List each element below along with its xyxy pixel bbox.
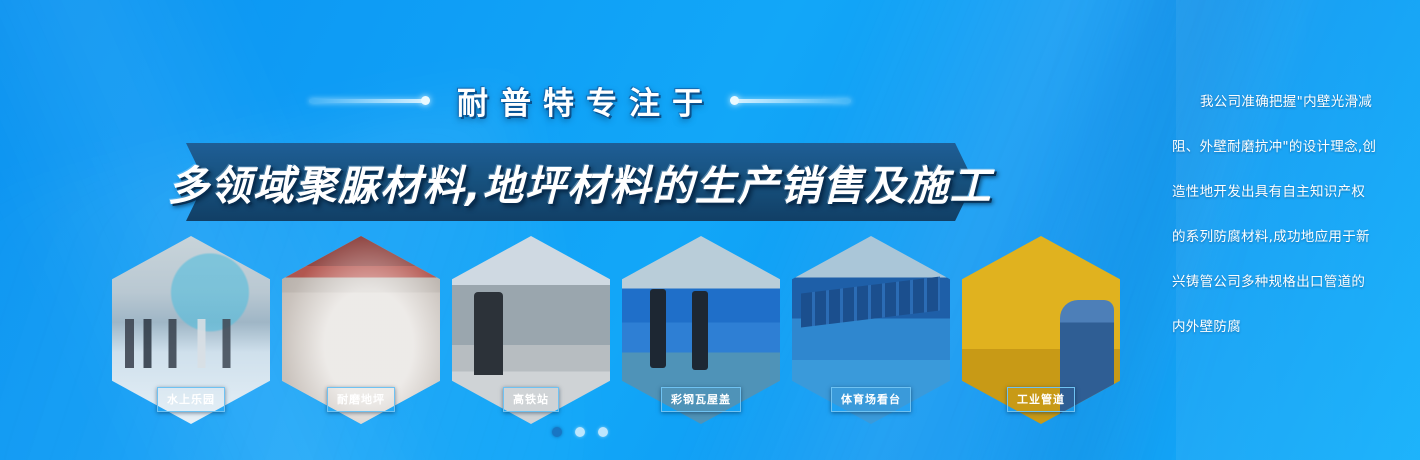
- headline-text: 多领域聚脲材料,地坪材料的生产销售及施工: [186, 143, 974, 221]
- right-rule-decoration: [733, 99, 851, 103]
- paragraph-line: 造性地开发出具有自主知识产权: [1172, 170, 1408, 215]
- carousel-dot-3[interactable]: [598, 427, 608, 437]
- gallery-item-wear-resistant-floor[interactable]: 耐磨地坪: [282, 236, 440, 424]
- rule-knob-icon: [421, 96, 430, 105]
- paragraph-line: 内外壁防腐: [1172, 305, 1408, 350]
- hexagon-gallery: 水上乐园 耐磨地坪 高铁站 彩钢瓦屋盖 体育场看台: [112, 236, 1122, 428]
- paragraph-line: 的系列防腐材料,成功地应用于新: [1172, 215, 1408, 260]
- gallery-item-label: 水上乐园: [157, 387, 225, 412]
- gallery-item-label: 耐磨地坪: [327, 387, 395, 412]
- carousel-dot-1[interactable]: [552, 427, 562, 437]
- headline-plate: 多领域聚脲材料,地坪材料的生产销售及施工: [186, 143, 974, 221]
- left-rule-decoration: [309, 99, 427, 103]
- paragraph-line: 兴铸管公司多种规格出口管道的: [1172, 260, 1408, 305]
- gallery-item-label: 工业管道: [1007, 387, 1075, 412]
- paragraph-line: 阻、外壁耐磨抗冲"的设计理念,创: [1172, 125, 1408, 170]
- rule-knob-icon: [730, 96, 739, 105]
- gallery-item-label: 高铁站: [503, 387, 559, 412]
- carousel-dots: [0, 427, 1160, 437]
- gallery-item-high-speed-rail-station[interactable]: 高铁站: [452, 236, 610, 424]
- paragraph-line: 我公司准确把握"内壁光滑减: [1172, 80, 1408, 125]
- promotional-banner: 耐普特专注于 多领域聚脲材料,地坪材料的生产销售及施工 水上乐园 耐磨地坪 高铁…: [0, 0, 1420, 460]
- eyebrow-heading: 耐普特专注于: [0, 78, 1160, 123]
- gallery-item-stadium-stand[interactable]: 体育场看台: [792, 236, 950, 424]
- gallery-item-industrial-pipeline[interactable]: 工业管道: [962, 236, 1120, 424]
- carousel-dot-2[interactable]: [575, 427, 585, 437]
- eyebrow-text: 耐普特专注于: [445, 78, 715, 123]
- gallery-item-color-steel-roof[interactable]: 彩钢瓦屋盖: [622, 236, 780, 424]
- gallery-item-label: 彩钢瓦屋盖: [661, 387, 741, 412]
- gallery-item-label: 体育场看台: [831, 387, 911, 412]
- gallery-item-waterpark[interactable]: 水上乐园: [112, 236, 270, 424]
- company-description-paragraph: 我公司准确把握"内壁光滑减 阻、外壁耐磨抗冲"的设计理念,创 造性地开发出具有自…: [1172, 80, 1408, 350]
